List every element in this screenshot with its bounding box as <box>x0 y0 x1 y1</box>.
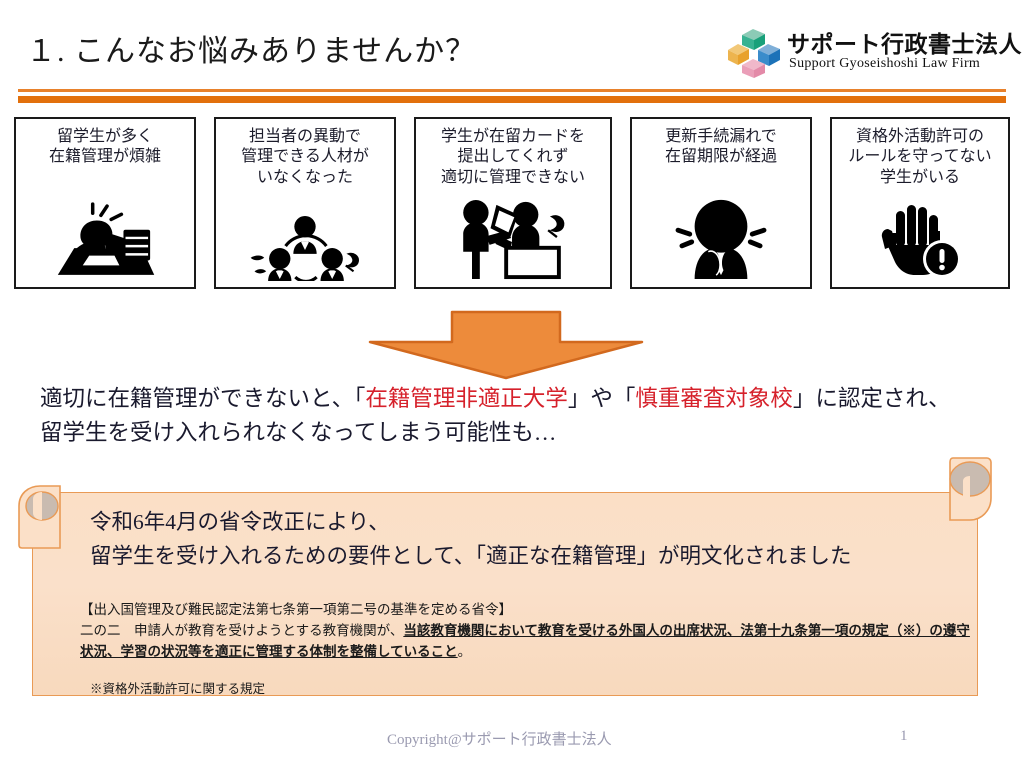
company-logo: サポート行政書士法人 Support Gyoseishoshi Law Firm <box>727 25 1015 83</box>
law-title: 【出入国管理及び難民認定法第七条第一項第二号の基準を定める省令】 <box>80 600 980 621</box>
consequence-highlight-1: 在籍管理非適正大学 <box>365 386 568 411</box>
problem-box-4[interactable]: 更新手続漏れで 在留期限が経過 <box>630 117 812 289</box>
stop-hand-warning-icon <box>832 203 1008 281</box>
problem-box-5[interactable]: 資格外活動許可の ルールを守ってない 学生がいる <box>830 117 1010 289</box>
student-refusing-document-icon <box>416 199 610 281</box>
footer-page-number: 1 <box>900 728 908 745</box>
consequence-line-1: 適切に在籍管理ができないと、「在籍管理非適正大学」や「慎重審査対象校」に認定され… <box>40 382 1008 416</box>
scroll-banner: 令和6年4月の省令改正により、 留学生を受け入れるための要件として、「適正な在籍… <box>18 468 992 710</box>
problem-box-2[interactable]: 担当者の異動で 管理できる人材が いなくなった <box>214 117 396 289</box>
down-arrow-icon <box>366 310 646 380</box>
scroll-heading: 令和6年4月の省令改正により、 留学生を受け入れるための要件として、「適正な在籍… <box>90 506 950 574</box>
problem-box-5-label: 資格外活動許可の ルールを守ってない 学生がいる <box>844 127 995 188</box>
law-body-plain-end: 。 <box>458 644 472 659</box>
logo-name-en: Support Gyoseishoshi Law Firm <box>789 56 980 72</box>
scroll-footnote: ※資格外活動許可に関する規定 <box>90 678 265 697</box>
consequence-text-a: 適切に在籍管理ができないと、「 <box>40 386 365 411</box>
consequence-highlight-2: 慎重審査対象校 <box>635 386 793 411</box>
law-body: 二の二 申請人が教育を受けようとする教育機関が、当該教育機関において教育を受ける… <box>80 621 980 663</box>
problem-box-row: 留学生が多く 在籍管理が煩雑 <box>14 117 1010 289</box>
header-rule-thick <box>18 96 1006 103</box>
page-title: １. こんなお悩みありませんか？ <box>26 26 476 70</box>
problem-box-1-label: 留学生が多く 在籍管理が煩雑 <box>45 127 165 168</box>
logo-name-jp: サポート行政書士法人 <box>787 25 1022 59</box>
problem-box-3[interactable]: 学生が在留カードを 提出してくれず 適切に管理できない <box>414 117 612 289</box>
footer-copyright: Copyright@サポート行政書士法人 <box>387 728 612 749</box>
scroll-curl-right-icon <box>948 456 992 522</box>
header-rule-thin <box>18 89 1006 92</box>
consequence-line-2: 留学生を受け入れられなくなってしまう可能性も… <box>40 416 1008 450</box>
problem-box-4-label: 更新手続漏れで 在留期限が経過 <box>661 127 781 168</box>
problem-box-1[interactable]: 留学生が多く 在籍管理が煩雑 <box>14 117 196 289</box>
consequence-text-c: 」に認定され、 <box>793 386 951 411</box>
stressed-person-at-desk-icon <box>16 201 194 281</box>
logo-mark-icon <box>727 27 783 79</box>
team-members-leaving-icon <box>216 215 394 281</box>
crying-person-icon <box>632 197 810 281</box>
scroll-curl-left-icon <box>18 484 62 550</box>
scroll-law-text: 【出入国管理及び難民認定法第七条第一項第二号の基準を定める省令】 二の二 申請人… <box>80 600 980 663</box>
consequence-paragraph: 適切に在籍管理ができないと、「在籍管理非適正大学」や「慎重審査対象校」に認定され… <box>40 382 1008 450</box>
problem-box-3-label: 学生が在留カードを 提出してくれず 適切に管理できない <box>437 127 589 188</box>
problem-box-2-label: 担当者の異動で 管理できる人材が いなくなった <box>237 127 373 188</box>
consequence-text-b: 」や「 <box>568 386 636 411</box>
law-body-plain-start: 二の二 申請人が教育を受けようとする教育機関が、 <box>80 623 403 638</box>
